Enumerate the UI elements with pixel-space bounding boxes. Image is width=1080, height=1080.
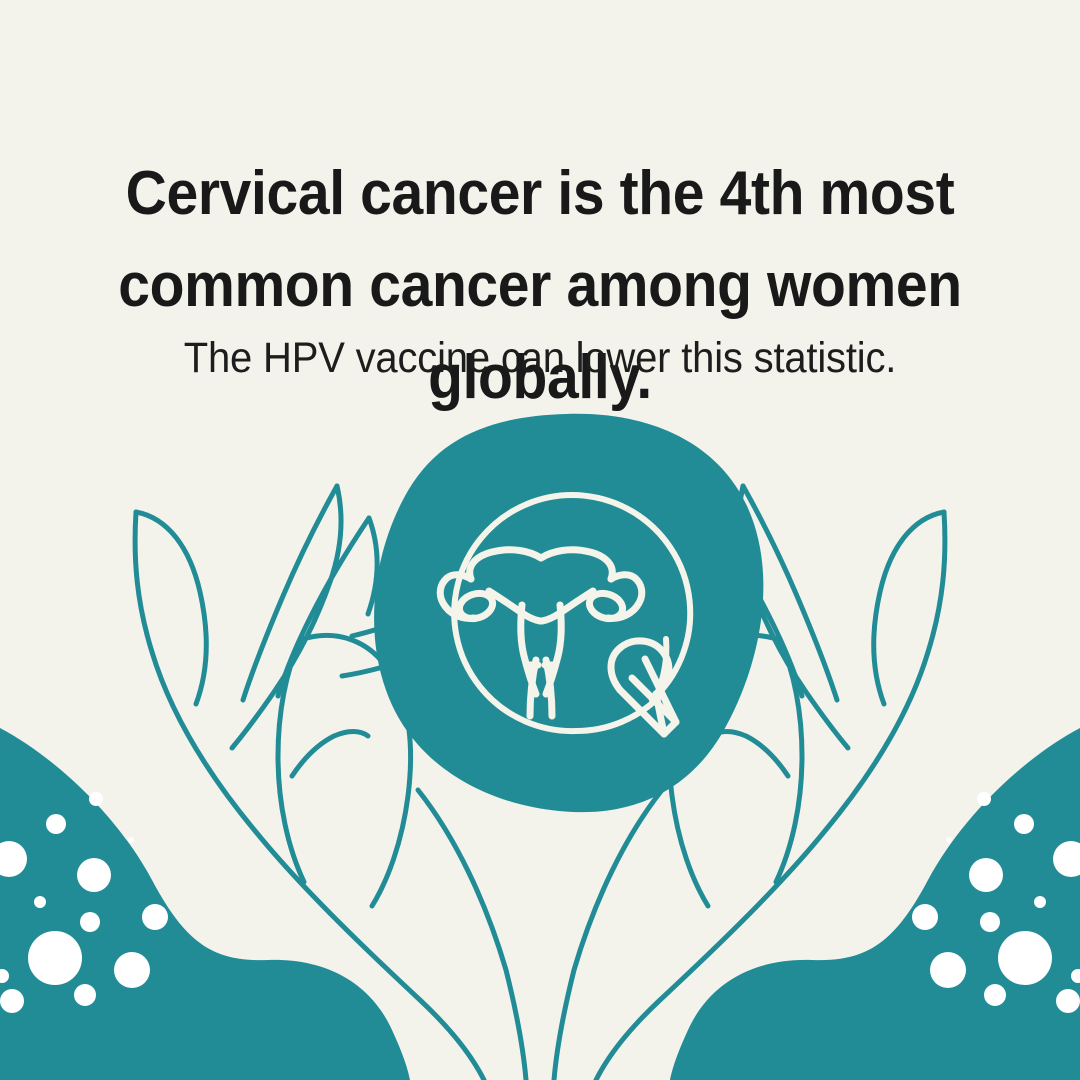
teal-circle-badge — [374, 414, 763, 812]
poster-canvas: Cervical cancer is the 4th most common c… — [0, 0, 1080, 1080]
illustration-artboard — [0, 0, 1080, 1080]
